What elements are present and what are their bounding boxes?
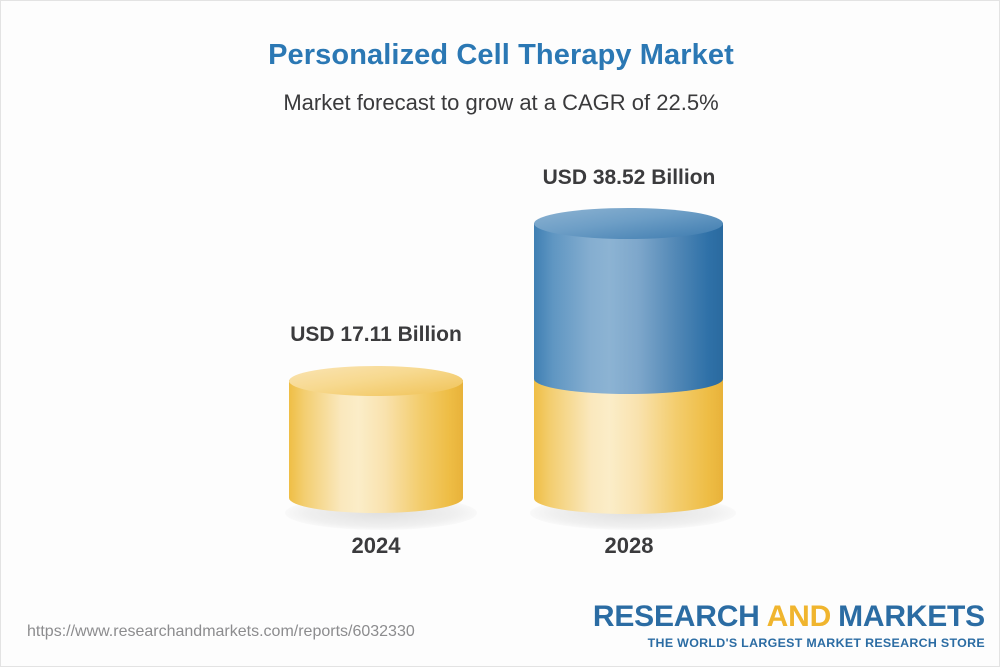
cylinder-bottom-cap-2028 bbox=[534, 483, 723, 514]
cylinder-segment-growth-2028 bbox=[534, 223, 723, 379]
value-label-2024: USD 17.11 Billion bbox=[276, 323, 476, 347]
cylinder-body-2024 bbox=[289, 380, 463, 498]
page-subtitle: Market forecast to grow at a CAGR of 22.… bbox=[1, 90, 1000, 116]
infographic-canvas: Personalized Cell Therapy Market Market … bbox=[0, 0, 1000, 667]
page-title: Personalized Cell Therapy Market bbox=[1, 39, 1000, 72]
category-label-2028: 2028 bbox=[529, 533, 729, 559]
category-label-2024: 2024 bbox=[276, 533, 476, 559]
brand-logo[interactable]: RESEARCHANDMARKETS THE WORLD'S LARGEST M… bbox=[593, 601, 985, 650]
brand-logo-word-and: AND bbox=[767, 600, 831, 633]
cylinder-bottom-cap-2024 bbox=[289, 483, 463, 513]
cylinder-top-cap-2024 bbox=[289, 366, 463, 396]
cylinder-segment-divider-2028 bbox=[534, 364, 723, 394]
brand-logo-word-research: RESEARCH bbox=[593, 600, 760, 633]
cylinder-top-cap-2028 bbox=[534, 208, 723, 239]
brand-logo-word-markets: MARKETS bbox=[838, 600, 985, 633]
source-url[interactable]: https://www.researchandmarkets.com/repor… bbox=[27, 623, 415, 641]
brand-logo-wordmark: RESEARCHANDMARKETS bbox=[593, 601, 985, 633]
value-label-2028: USD 38.52 Billion bbox=[529, 166, 729, 190]
cylinder-segment-base-2028 bbox=[534, 379, 723, 498]
brand-logo-tagline: THE WORLD'S LARGEST MARKET RESEARCH STOR… bbox=[593, 636, 985, 650]
